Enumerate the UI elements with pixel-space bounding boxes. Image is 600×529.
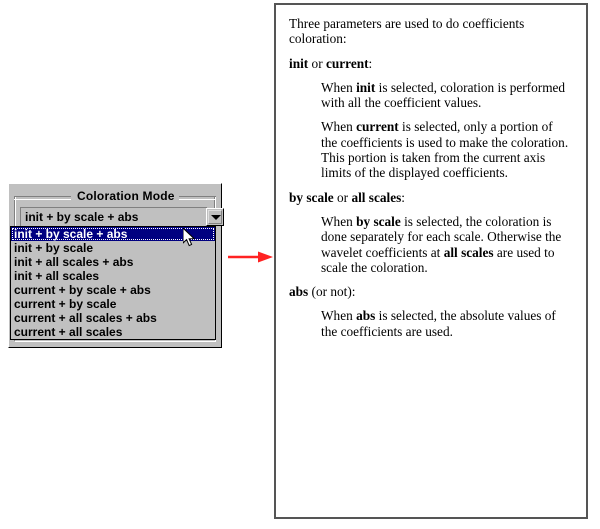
term-by-scale: by scale — [289, 190, 334, 205]
text-fragment: When — [321, 119, 356, 134]
term-init: init — [289, 56, 308, 71]
list-item[interactable]: current + by scale — [11, 297, 215, 311]
heading-colon: : — [369, 56, 373, 71]
term-current: current — [326, 56, 369, 71]
intro-paragraph: Three parameters are used to do coeffici… — [289, 16, 572, 47]
heading-suffix: (or not): — [308, 284, 355, 299]
section-heading-abs: abs (or not): — [289, 284, 572, 299]
list-item[interactable]: current + by scale + abs — [11, 283, 215, 297]
current-description: When current is selected, only a portion… — [321, 119, 572, 180]
term-abs: abs — [289, 284, 308, 299]
description-panel: Three parameters are used to do coeffici… — [274, 3, 588, 519]
abs-description: When abs is selected, the absolute value… — [321, 308, 572, 339]
heading-conjunction: or — [334, 190, 352, 205]
combobox-dropdown-button[interactable] — [206, 208, 224, 226]
combobox-selected-value: init + by scale + abs — [25, 210, 138, 224]
right-arrow-icon — [228, 250, 274, 264]
text-fragment: When — [321, 308, 356, 323]
term-current: current — [356, 119, 399, 134]
text-fragment: When — [321, 214, 356, 229]
term-init: init — [356, 80, 375, 95]
term-all-scales: all scales — [351, 190, 401, 205]
heading-colon: : — [401, 190, 405, 205]
term-abs: abs — [356, 308, 375, 323]
chevron-down-icon — [211, 215, 221, 220]
group-box-title: Coloration Mode — [73, 189, 179, 203]
list-item[interactable]: init + all scales — [11, 269, 215, 283]
heading-conjunction: or — [308, 56, 326, 71]
list-item[interactable]: init + all scales + abs — [11, 255, 215, 269]
by-scale-description: When by scale is selected, the coloratio… — [321, 214, 572, 275]
list-item[interactable]: current + all scales — [11, 325, 215, 339]
mouse-pointer-icon — [183, 228, 196, 248]
term-all-scales: all scales — [444, 245, 494, 260]
text-fragment: When — [321, 80, 356, 95]
init-description: When init is selected, coloration is per… — [321, 80, 572, 111]
section-heading-by-scale-or-all-scales: by scale or all scales: — [289, 190, 572, 205]
group-box-frame-left — [14, 196, 71, 200]
coloration-mode-combobox[interactable]: init + by scale + abs — [20, 207, 208, 227]
term-by-scale: by scale — [356, 214, 401, 229]
section-heading-init-or-current: init or current: — [289, 56, 572, 71]
list-item[interactable]: current + all scales + abs — [11, 311, 215, 325]
